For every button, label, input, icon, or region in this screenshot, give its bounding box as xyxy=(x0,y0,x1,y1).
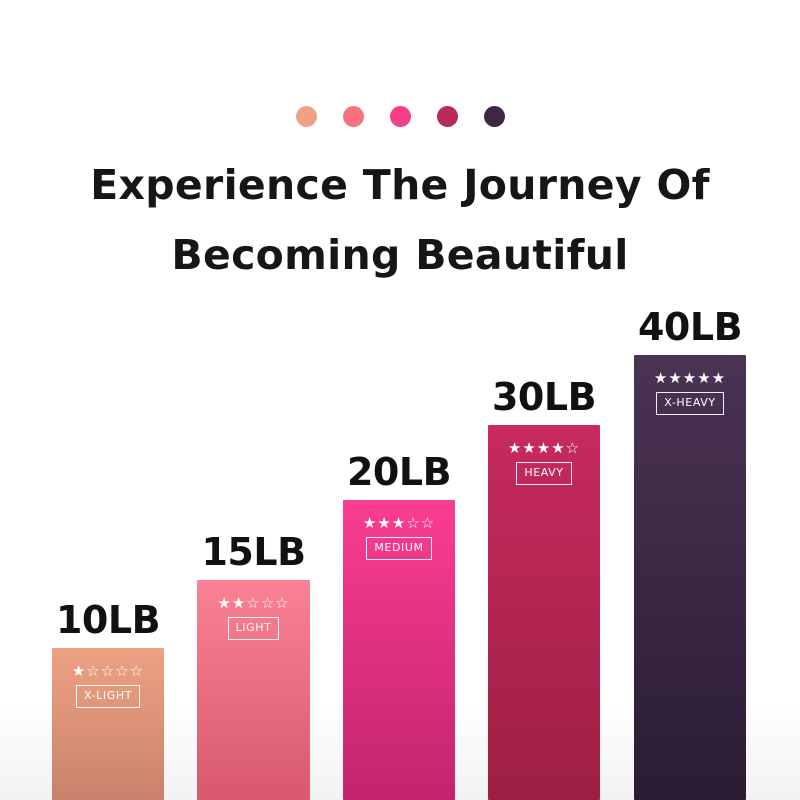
rating-stars-20lb: ★★★☆☆ xyxy=(363,516,435,531)
product-infographic: Experience The Journey Of Becoming Beaut… xyxy=(0,0,800,800)
bar-label-30lb: 30LB xyxy=(488,375,600,419)
bar-40lb xyxy=(634,355,746,800)
badge-10lb: ★☆☆☆☆ X-LIGHT xyxy=(52,664,164,708)
level-label-15lb: LIGHT xyxy=(228,617,280,640)
level-label-40lb: X-HEAVY xyxy=(656,392,723,415)
level-label-20lb: MEDIUM xyxy=(366,537,431,560)
badge-20lb: ★★★☆☆ MEDIUM xyxy=(343,516,455,560)
rating-stars-10lb: ★☆☆☆☆ xyxy=(72,664,144,679)
bar-label-20lb: 20LB xyxy=(343,450,455,494)
badge-30lb: ★★★★☆ HEAVY xyxy=(488,441,600,485)
badge-40lb: ★★★★★ X-HEAVY xyxy=(634,371,746,415)
rating-stars-30lb: ★★★★☆ xyxy=(508,441,580,456)
badge-15lb: ★★☆☆☆ LIGHT xyxy=(197,596,310,640)
resistance-bar-chart: 10LB ★☆☆☆☆ X-LIGHT 15LB ★★☆☆☆ LIGHT 20LB… xyxy=(0,0,800,800)
rating-stars-15lb: ★★☆☆☆ xyxy=(217,596,289,611)
rating-stars-40lb: ★★★★★ xyxy=(654,371,726,386)
level-label-30lb: HEAVY xyxy=(516,462,571,485)
bar-label-40lb: 40LB xyxy=(634,305,746,349)
bar-label-10lb: 10LB xyxy=(52,598,164,642)
bar-label-15lb: 15LB xyxy=(197,530,310,574)
level-label-10lb: X-LIGHT xyxy=(76,685,140,708)
